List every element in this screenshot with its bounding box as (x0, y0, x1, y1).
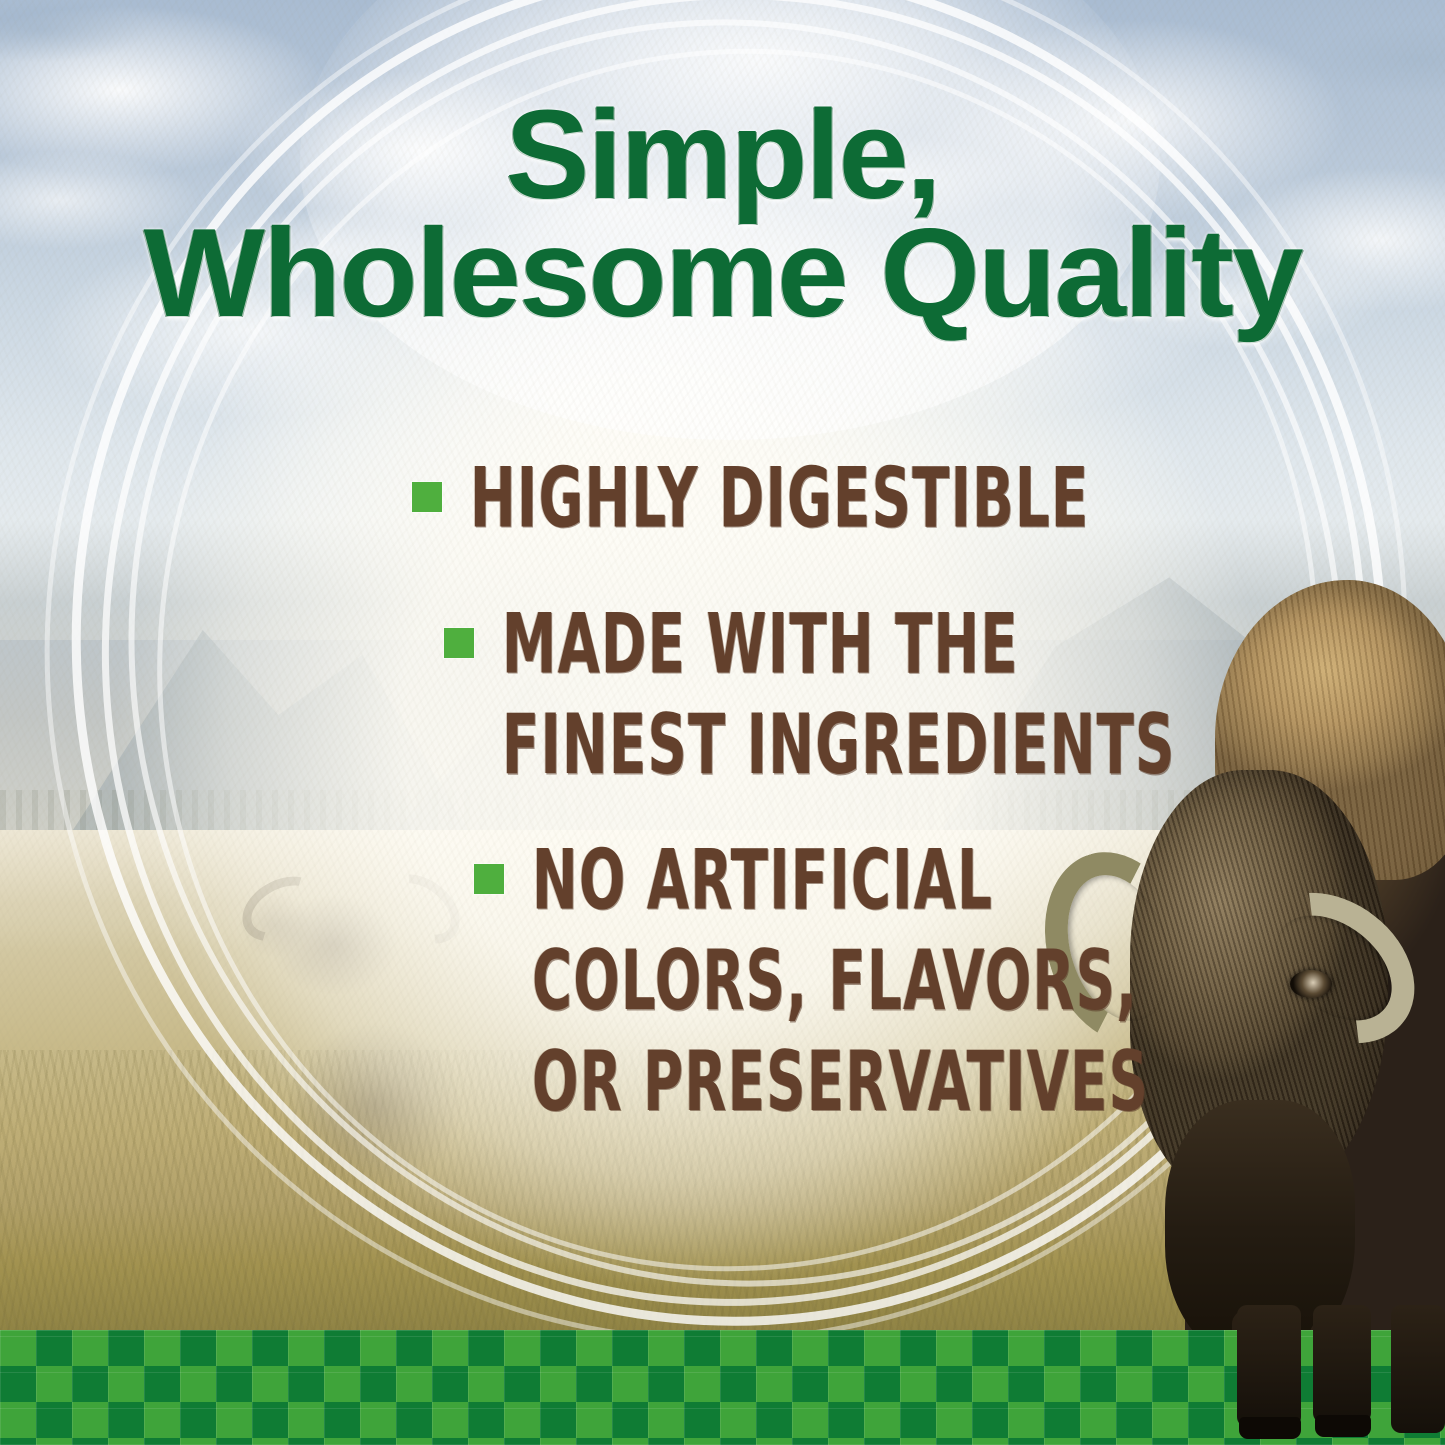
bullet-line: HIGHLY DIGESTIBLE (470, 448, 1090, 549)
bison-hoof (1315, 1415, 1371, 1437)
marketing-banner: Simple, Wholesome Quality HIGHLY DIGESTI… (0, 0, 1445, 1445)
bison-leg (1237, 1305, 1301, 1427)
bullet-line: OR PRESERVATIVES (532, 1032, 1149, 1133)
bullet-text: HIGHLY DIGESTIBLE (470, 448, 1090, 549)
list-item: NO ARTIFICIAL COLORS, FLAVORS, OR PRESER… (474, 830, 1060, 1100)
bullet-line: MADE WITH THE (502, 594, 1176, 695)
feature-list: HIGHLY DIGESTIBLE MADE WITH THE FINEST I… (0, 448, 1060, 1156)
bullet-square-icon (412, 482, 442, 512)
list-item: MADE WITH THE FINEST INGREDIENTS (444, 594, 1060, 774)
bullet-line: NO ARTIFICIAL (532, 830, 1149, 931)
bison-leg (1391, 1305, 1445, 1433)
bullet-text: NO ARTIFICIAL COLORS, FLAVORS, OR PRESER… (532, 830, 1149, 1132)
page-title: Simple, Wholesome Quality (0, 96, 1445, 332)
bullet-text: MADE WITH THE FINEST INGREDIENTS (502, 594, 1176, 796)
bullet-square-icon (444, 628, 474, 658)
bullet-line: FINEST INGREDIENTS (502, 695, 1176, 796)
title-line-1: Simple, (0, 96, 1445, 214)
bison-legs-foreground (1185, 1305, 1445, 1445)
bullet-line: COLORS, FLAVORS, (532, 931, 1149, 1032)
bison-hoof (1239, 1417, 1301, 1439)
title-line-2: Wholesome Quality (0, 214, 1445, 332)
list-item: HIGHLY DIGESTIBLE (412, 448, 1060, 538)
bison-leg (1313, 1305, 1371, 1423)
bullet-square-icon (474, 864, 504, 894)
